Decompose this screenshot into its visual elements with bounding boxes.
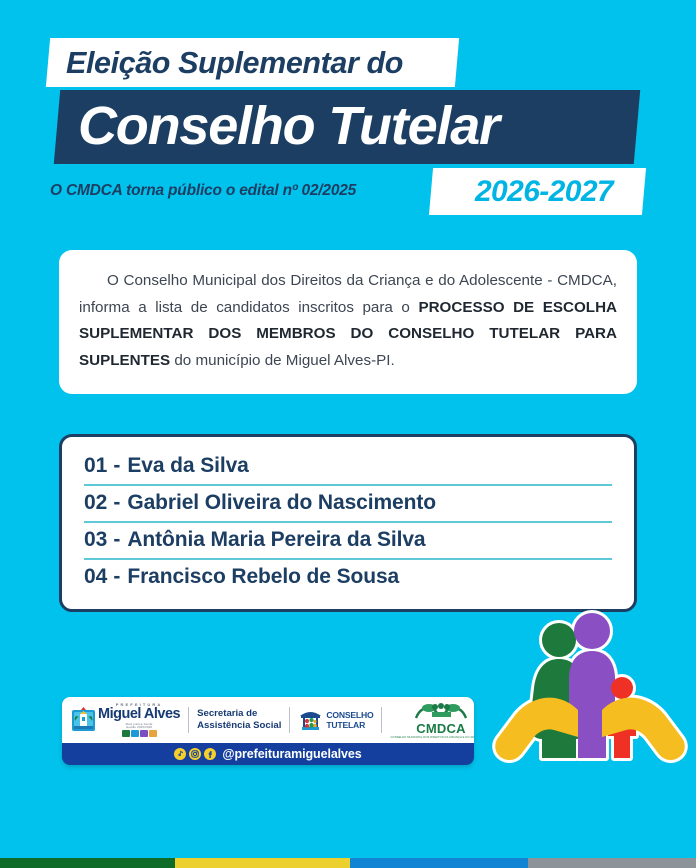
announcement-text: O Conselho Municipal dos Direitos da Cri… [79,268,617,374]
chip-orange [149,730,157,737]
bar-segment-gray [528,858,696,868]
family-in-hands-illustration [492,606,688,772]
cmdca-logo: CMDCA CONSELHO MUNICIPAL DOS DIREITOS DA… [390,702,474,739]
bar-segment-blue [350,858,528,868]
conselho-tutelar-line1: CONSELHO [326,710,373,721]
prefeitura-tagline-2: Gestão 2025/2028 [98,726,180,729]
bar-segment-yellow [175,858,350,868]
instagram-icon[interactable] [189,748,201,760]
chip-blue [131,730,139,737]
conselho-tutelar-logo: CONSELHO TUTELAR [298,707,373,733]
prefeitura-color-chips [98,730,180,737]
secretaria-label: Secretaria de Assistência Social [197,708,281,733]
candidate-number: 04 [84,565,107,589]
cmdca-figures-icon [412,702,470,722]
cmdca-wordmark: CMDCA [390,721,474,736]
candidate-dash: - [107,454,127,478]
years-label: 2026-2027 [444,174,644,210]
table-row: 04 - Francisco Rebelo de Sousa [84,560,612,595]
candidate-list: 01 - Eva da Silva 02 - Gabriel Oliveira … [59,434,637,612]
adult-purple-head [574,613,610,649]
prefeitura-miguel-alves-logo: PREFEITURA Miguel Alves Mais justiça Soc… [71,703,180,737]
footer-logos-row: PREFEITURA Miguel Alves Mais justiça Soc… [62,697,474,743]
divider [289,707,290,733]
prefeitura-wordmark: PREFEITURA Miguel Alves Mais justiça Soc… [98,703,180,737]
cmdca-subtitle: CONSELHO MUNICIPAL DOS DIREITOS DA CRIAN… [390,736,474,739]
facebook-icon[interactable] [204,748,216,760]
conselho-tutelar-icon [298,707,323,733]
child-red-head [611,677,633,699]
table-row: 01 - Eva da Silva [84,449,612,486]
title-line2: Conselho Tutelar [78,93,658,160]
table-row: 03 - Antônia Maria Pereira da Silva [84,523,612,560]
announcement-tail: do município de Miguel Alves-PI. [170,352,395,369]
candidate-name: Antônia Maria Pereira da Silva [127,528,425,552]
secretaria-line1: Secretaria de [197,708,281,721]
candidate-number: 02 [84,491,107,515]
chip-purple [140,730,148,737]
adult-green-head [542,623,576,657]
candidate-number: 03 [84,528,107,552]
candidate-dash: - [107,528,127,552]
candidate-name: Gabriel Oliveira do Nascimento [127,491,436,515]
table-row: 02 - Gabriel Oliveira do Nascimento [84,486,612,523]
secretaria-line2: Assistência Social [197,720,281,733]
tiktok-icon[interactable] [174,748,186,760]
candidate-dash: - [107,565,127,589]
city-crest-icon [71,707,96,734]
bar-segment-green [0,858,175,868]
candidate-name: Eva da Silva [127,454,248,478]
conselho-tutelar-line2: TUTELAR [326,720,373,731]
social-media-bar: @prefeituramiguelalves [62,743,474,765]
conselho-tutelar-wordmark: CONSELHO TUTELAR [326,710,373,731]
candidate-name: Francisco Rebelo de Sousa [127,565,399,589]
divider [381,707,382,733]
bottom-color-bar [0,858,696,868]
header-subtitle: O CMDCA torna público o edital nº 02/202… [50,182,356,200]
title-line1: Eleição Suplementar do [66,44,466,82]
announcement-card: O Conselho Municipal dos Direitos da Cri… [59,250,637,394]
prefeitura-name: Miguel Alves [98,707,180,722]
poster-header: Eleição Suplementar do Conselho Tutelar … [0,0,696,232]
candidate-number: 01 [84,454,107,478]
social-handle: @prefeituramiguelalves [222,747,361,761]
candidate-dash: - [107,491,127,515]
footer-bar: PREFEITURA Miguel Alves Mais justiça Soc… [62,697,474,765]
chip-green [122,730,130,737]
divider [188,707,189,733]
